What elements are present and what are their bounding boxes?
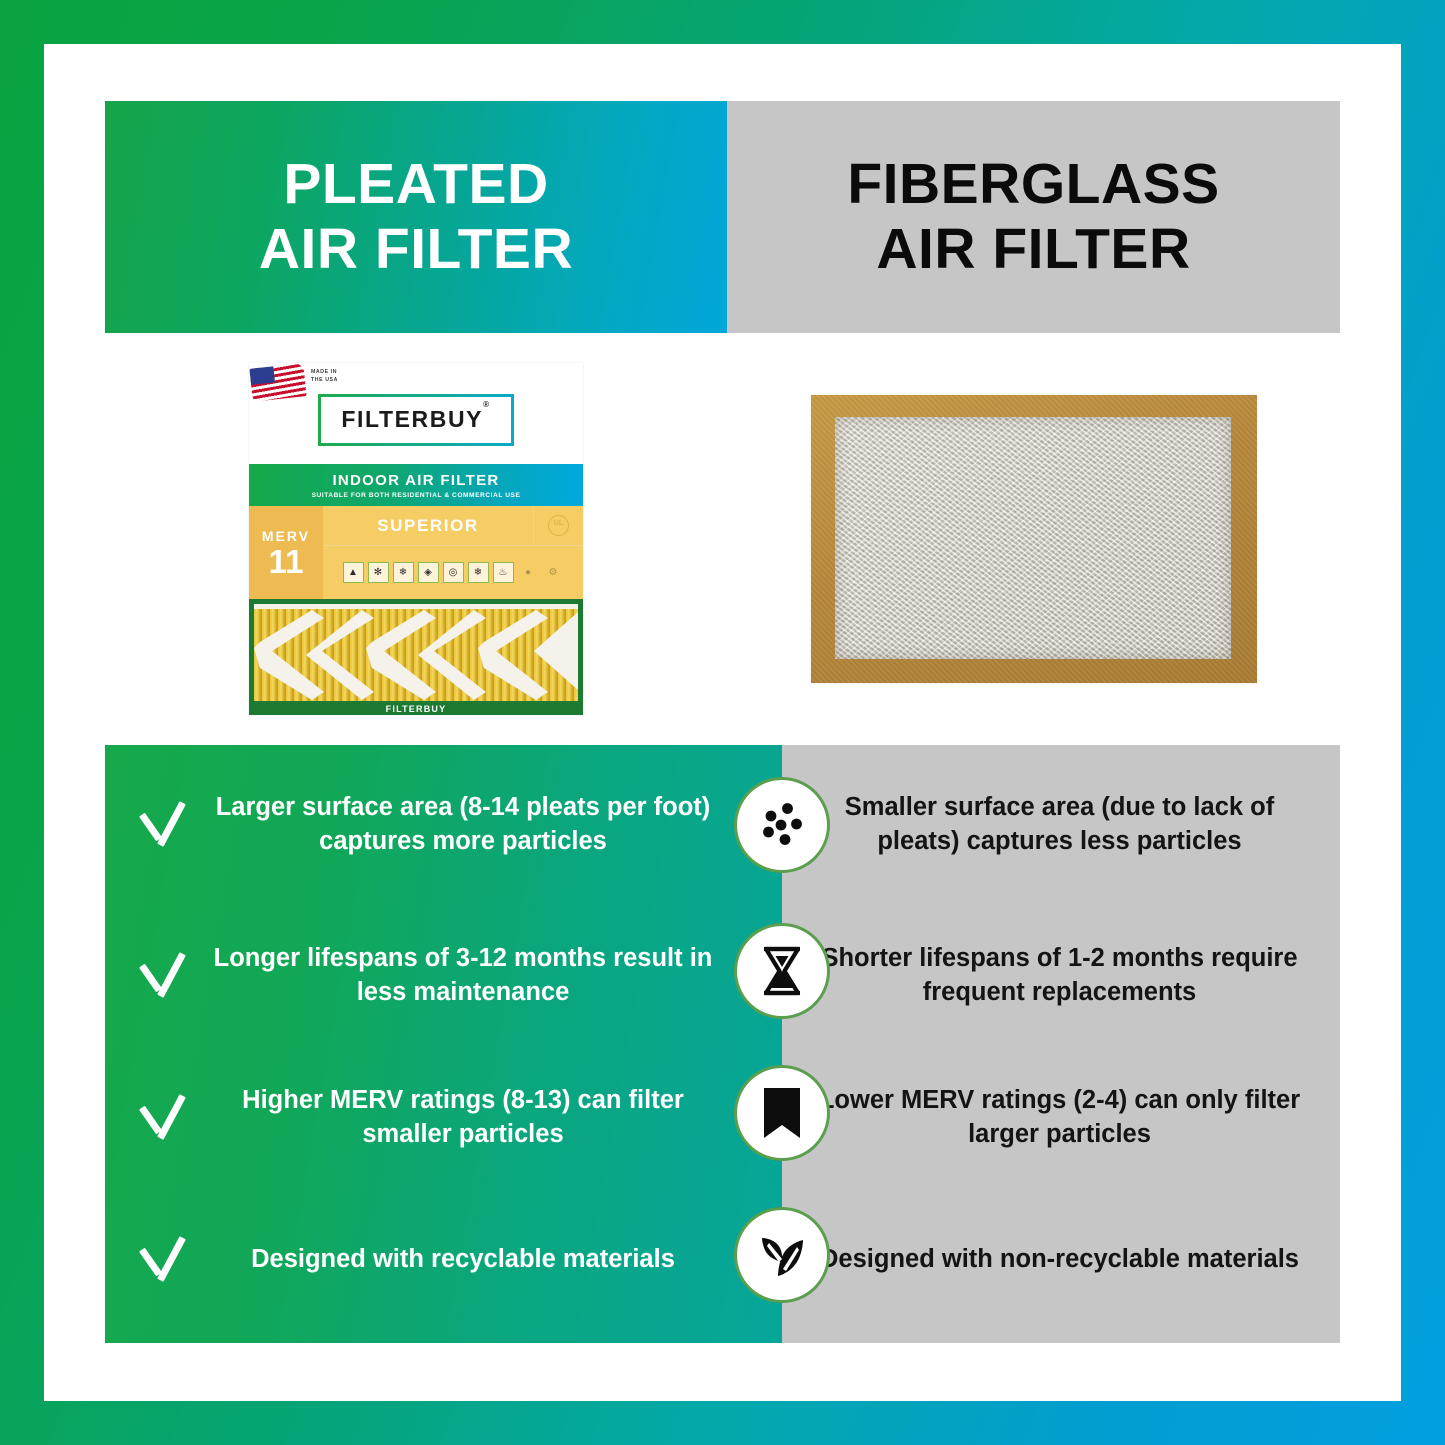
wire-support-grid-icon bbox=[254, 604, 578, 701]
box-top-section: MADE IN THE USA FILTERBUY® bbox=[249, 363, 583, 464]
header-fiberglass: FIBERGLASS AIR FILTER bbox=[727, 101, 1340, 333]
fiberglass-filter-product-image bbox=[811, 395, 1257, 683]
pleated-filter-product-image: MADE IN THE USA FILTERBUY® INDOOR AIR FI… bbox=[249, 363, 583, 715]
fiberglass-image-cell bbox=[727, 333, 1340, 745]
row-left-cell: Larger surface area (8-14 pleats per foo… bbox=[105, 745, 727, 905]
row-left-cell: Designed with recyclable materials bbox=[105, 1189, 727, 1331]
header-row: PLEATED AIR FILTER FIBERGLASS AIR FILTER bbox=[105, 101, 1340, 333]
virus-icon: ⚙ bbox=[543, 562, 564, 583]
row-right-text: Shorter lifespans of 1-2 months require … bbox=[805, 942, 1314, 1009]
comparison-row: Longer lifespans of 3-12 months result i… bbox=[105, 905, 1340, 1047]
bacteria-icon: ◎ bbox=[443, 562, 464, 583]
checkmark-icon bbox=[135, 796, 193, 854]
row-left-cell: Higher MERV ratings (8-13) can filter sm… bbox=[105, 1047, 727, 1189]
box-indoor-band: INDOOR AIR FILTER SUITABLE FOR BOTH RESI… bbox=[249, 464, 583, 506]
row-right-text: Designed with non-recyclable materials bbox=[805, 1243, 1314, 1277]
merv-label: MERV bbox=[262, 528, 310, 544]
made-in-line2: THE USA bbox=[311, 377, 338, 383]
pleat-surface bbox=[254, 604, 578, 701]
mold-spore-icon: ◈ bbox=[418, 562, 439, 583]
bookmark-icon bbox=[734, 1065, 830, 1161]
fiberglass-mesh bbox=[835, 417, 1231, 659]
pet-dander-icon: ❄ bbox=[468, 562, 489, 583]
tier-label: SUPERIOR bbox=[323, 516, 533, 536]
comparison-section: Larger surface area (8-14 pleats per foo… bbox=[105, 745, 1340, 1343]
pleated-image-cell: MADE IN THE USA FILTERBUY® INDOOR AIR FI… bbox=[105, 333, 727, 745]
certification-cell bbox=[533, 506, 583, 545]
band-title: INDOOR AIR FILTER bbox=[332, 472, 499, 489]
brand-logo: FILTERBUY® bbox=[341, 406, 490, 433]
brand-logo-frame: FILTERBUY® bbox=[318, 394, 513, 446]
row-left-text: Longer lifespans of 3-12 months result i… bbox=[211, 942, 715, 1009]
tier-row: SUPERIOR bbox=[323, 506, 583, 546]
capability-icon-strip: ▲ ✻ ❄ ◈ ◎ ❄ ♨ ● ⚙ bbox=[323, 546, 583, 599]
row-left-text: Higher MERV ratings (8-13) can filter sm… bbox=[211, 1084, 715, 1151]
comparison-rows: Larger surface area (8-14 pleats per foo… bbox=[105, 745, 1340, 1343]
comparison-row: Larger surface area (8-14 pleats per foo… bbox=[105, 745, 1340, 905]
comparison-row: Designed with recyclable materials Desig… bbox=[105, 1189, 1340, 1331]
header-fiberglass-line2: AIR FILTER bbox=[876, 217, 1190, 281]
header-fiberglass-line1: FIBERGLASS bbox=[847, 152, 1219, 216]
header-fiberglass-title: FIBERGLASS AIR FILTER bbox=[847, 152, 1219, 282]
brand-logo-text: FILTERBUY bbox=[341, 406, 483, 432]
product-image-row: MADE IN THE USA FILTERBUY® INDOOR AIR FI… bbox=[105, 333, 1340, 745]
leaf-icon bbox=[734, 1207, 830, 1303]
header-pleated-line1: PLEATED bbox=[283, 152, 548, 216]
box-spec-band: MERV 11 SUPERIOR ▲ bbox=[249, 506, 583, 599]
row-right-text: Smaller surface area (due to lack of ple… bbox=[805, 791, 1314, 858]
header-pleated-title: PLEATED AIR FILTER bbox=[259, 152, 573, 282]
odor-icon: ● bbox=[518, 562, 539, 583]
pollen-icon: ❄ bbox=[393, 562, 414, 583]
made-in-line1: MADE IN bbox=[311, 369, 337, 375]
header-pleated: PLEATED AIR FILTER bbox=[105, 101, 727, 333]
row-left-text: Larger surface area (8-14 pleats per foo… bbox=[211, 791, 715, 858]
header-pleated-line2: AIR FILTER bbox=[259, 217, 573, 281]
row-left-text: Designed with recyclable materials bbox=[211, 1243, 715, 1277]
comparison-row: Higher MERV ratings (8-13) can filter sm… bbox=[105, 1047, 1340, 1189]
checkmark-icon bbox=[135, 947, 193, 1005]
made-in-usa-label: MADE IN THE USA bbox=[311, 369, 338, 385]
infographic-page: PLEATED AIR FILTER FIBERGLASS AIR FILTER bbox=[0, 0, 1445, 1445]
particles-icon bbox=[734, 777, 830, 873]
checkmark-icon bbox=[135, 1231, 193, 1289]
band-subtitle: SUITABLE FOR BOTH RESIDENTIAL & COMMERCI… bbox=[312, 492, 521, 499]
spec-right-column: SUPERIOR ▲ ✻ ❄ ◈ ◎ ❄ bbox=[323, 506, 583, 599]
smoke-icon: ♨ bbox=[493, 562, 514, 583]
dust-mite-icon: ✻ bbox=[368, 562, 389, 583]
pleated-media-area: FILTERBUY bbox=[249, 599, 583, 715]
usa-flag-icon bbox=[249, 363, 306, 401]
content-area: PLEATED AIR FILTER FIBERGLASS AIR FILTER bbox=[105, 101, 1340, 1343]
merv-block: MERV 11 bbox=[249, 506, 323, 599]
row-right-text: Lower MERV ratings (2-4) can only filter… bbox=[805, 1084, 1314, 1151]
row-left-cell: Longer lifespans of 3-12 months result i… bbox=[105, 905, 727, 1047]
merv-value: 11 bbox=[269, 545, 304, 578]
box-footer-brand: FILTERBUY bbox=[249, 704, 583, 714]
checkmark-icon bbox=[135, 1089, 193, 1147]
ul-certification-icon bbox=[548, 515, 569, 536]
hourglass-icon bbox=[734, 923, 830, 1019]
dust-icon: ▲ bbox=[343, 562, 364, 583]
